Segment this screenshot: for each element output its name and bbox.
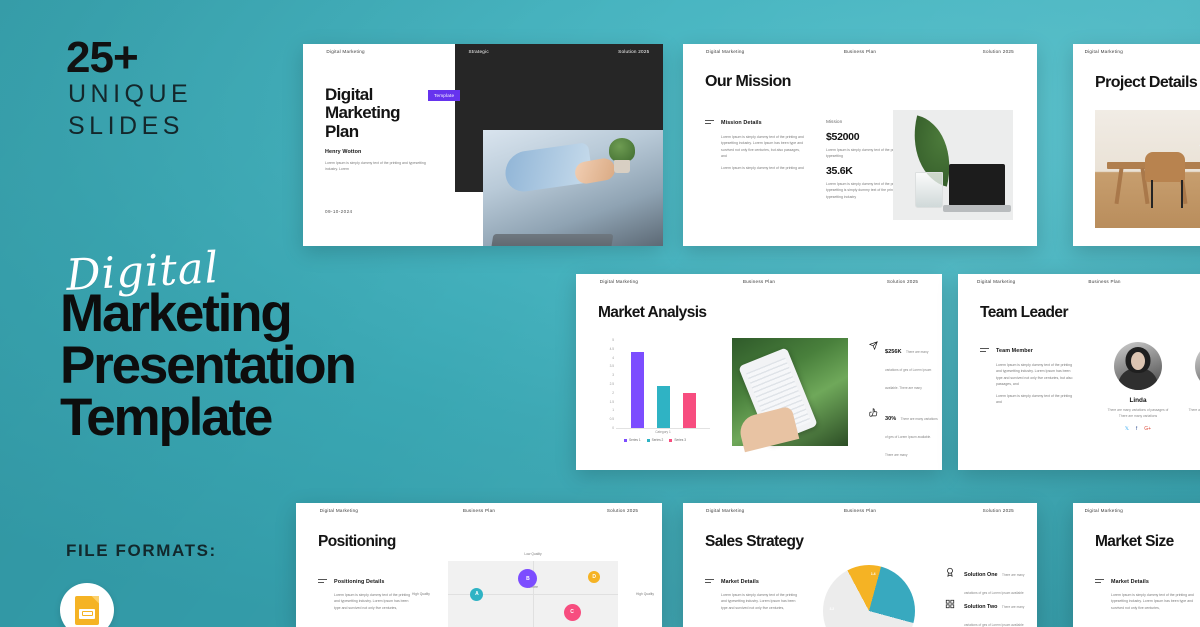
chart-grid-icon [945,595,957,627]
hamburger-icon [1095,579,1104,584]
bar-chart: 54.543.532.521.510.50 Category 1 Series … [600,340,710,444]
slide5-body: Lorem Ipsum is simply dummy text of the … [980,362,1076,406]
hamburger-icon [980,348,989,353]
stat-value: 30% [885,416,896,422]
slide2-header: Digital Marketing Business Plan Solution… [683,44,1037,58]
slide1-head-solution: Solution 2025 [618,49,649,54]
matrix-label-left: High Quality [412,592,430,596]
facebook-icon[interactable]: f [1136,426,1137,432]
template-badge: Template [428,90,460,101]
slide5-body-2: Lorem Ipsum is simply dummy text of the … [996,393,1076,406]
bar-chart-plot [616,340,710,429]
title-line-2: Presentation [60,340,355,392]
matrix-label-right: High Quality [636,592,654,596]
bar-chart-legend-item: Series 1 [624,438,641,442]
bar-chart-legend-item: Series 2 [647,438,664,442]
bar-chart-y-tick: 3 [612,373,614,377]
page-title: Marketing Presentation Template [60,288,355,444]
slide3-header: Digital Marketing [1073,44,1200,58]
slide5-head-center: Business Plan [1088,279,1120,284]
slide5-header: Digital Marketing Business Plan [958,274,1200,288]
slide8-title: Market Size [1095,533,1174,551]
slide5-details-column: Team Member Lorem Ipsum is simply dummy … [980,348,1076,411]
bar-chart-x-label: Category 1 [616,430,710,434]
slide-card-project-details[interactable]: Digital Marketing Project Details [1073,44,1200,246]
bar-chart-y-tick: 2.5 [610,382,614,386]
stat-item: 30% There are many variations of ges of … [868,407,938,461]
unique-line-2: SLIDES [68,110,192,142]
team-member-card: Linda There are many variations of passa… [1102,342,1174,432]
slide8-details-column: Market Details Lorem Ipsum is simply dum… [1095,579,1199,616]
matrix-label-top: Low Quality [524,552,541,556]
bar-chart-legend-item: Series 3 [669,438,686,442]
slide6-head-right: Solution 2025 [607,508,638,513]
slide8-section-label: Market Details [1111,579,1149,585]
slide1-author: Henry Wotton [325,149,361,155]
social-links[interactable]: 𝕏 f G+ [1102,426,1174,432]
pie-label-2: 3.2 [829,607,834,611]
slide1-dark-header: Strategic Solution 2025 [455,44,663,58]
slide3-head-left: Digital Marketing [1085,49,1123,54]
slide7-head-left: Digital Marketing [706,508,744,513]
thumbs-up-icon [868,407,879,461]
slide7-title: Sales Strategy [705,533,803,551]
twitter-icon[interactable]: 𝕏 [1125,426,1129,432]
slide5-title: Team Leader [980,304,1068,322]
slide4-title: Market Analysis [598,304,706,322]
bar-chart-y-tick: 4 [612,356,614,360]
bar-chart-y-tick: 4.5 [610,347,614,351]
google-slides-badge[interactable] [60,583,114,627]
bar-chart-y-tick: 3.5 [610,364,614,368]
slide2-details-column: Mission Details Lorem Ipsum is simply du… [705,120,805,176]
bar-chart-y-tick: 5 [612,338,614,342]
slide5-body-1: Lorem Ipsum is simply dummy text of the … [996,362,1076,388]
slide-card-digital-marketing-plan[interactable]: Digital Marketing Strategic Solution 202… [303,44,663,246]
pie-chart: 1.4 3.2 [823,565,915,627]
paper-plane-icon [868,340,879,394]
avatar [1195,342,1200,390]
slide7-head-center: Business Plan [844,508,876,513]
slide8-header: Digital Marketing [1073,503,1200,517]
solution-title: Solution Two [964,604,997,610]
slide1-head-strategic: Strategic [469,49,489,54]
slide-card-market-size[interactable]: Digital Marketing Market Size Market Det… [1073,503,1200,627]
slide4-head-right: Solution 2025 [887,279,918,284]
slide3-photo [1095,110,1200,228]
pie-label-1: 1.4 [871,572,876,576]
slide7-section-label: Market Details [721,579,759,585]
slide7-body: Lorem Ipsum is simply dummy text of the … [705,592,801,611]
badge-award-icon [945,563,957,599]
social-links[interactable]: 𝕏 f G+ [1183,426,1200,432]
slide2-photo [893,110,1013,220]
slide6-head-left: Digital Marketing [320,508,358,513]
stat-item: $256K There are many variations of ges o… [868,340,938,394]
slide-card-team-leader[interactable]: Digital Marketing Business Plan Team Lea… [958,274,1200,470]
slide4-header: Digital Marketing Business Plan Solution… [576,274,942,288]
positioning-matrix: Low Quality High Quality High Quality Ce… [448,561,618,627]
team-member-card: Henry There are many variations of passa… [1183,342,1200,432]
bar-chart-y-tick: 1.5 [610,400,614,404]
unique-line-1: UNIQUE [68,78,192,110]
member-body: There are many variations of passages of… [1102,408,1174,420]
member-name: Henry [1183,397,1200,404]
slide7-head-right: Solution 2025 [983,508,1014,513]
member-body: There are many variations of passages of… [1183,408,1200,420]
hamburger-icon [705,120,714,125]
avatar [1114,342,1162,390]
stat-body: There are many variations of ges of Lore… [885,417,938,457]
slide1-date: 09-10-2024 [325,209,353,214]
solution-item: Solution One There are many variations o… [945,563,1033,599]
slide-card-market-analysis[interactable]: Digital Marketing Business Plan Solution… [576,274,942,470]
slide6-head-center: Business Plan [463,508,495,513]
google-plus-icon[interactable]: G+ [1144,426,1151,432]
slide2-head-center: Business Plan [844,49,876,54]
slide2-body-2: Lorem Ipsum is simply dummy text of the … [721,165,805,171]
slide-card-our-mission[interactable]: Digital Marketing Business Plan Solution… [683,44,1037,246]
bar-chart-y-axis: 54.543.532.521.510.50 [600,340,614,428]
slide4-stats-list: $256K There are many variations of ges o… [868,340,938,470]
slide-count: 25+ [66,36,138,80]
bar-chart-legend: Series 1Series 2Series 3 [600,438,710,442]
slide7-header: Digital Marketing Business Plan Solution… [683,503,1037,517]
bar-chart-y-tick: 0.5 [610,417,614,421]
positioning-bubble-a: A [470,588,483,601]
slide5-head-left: Digital Marketing [977,279,1015,284]
slide2-title: Our Mission [705,73,791,91]
positioning-bubble-c: C [564,604,581,621]
bar-chart-bar [683,393,696,428]
google-slides-icon [75,596,99,625]
slide2-body-1: Lorem Ipsum is simply dummy text of the … [721,134,805,160]
solution-title: Solution One [964,572,998,578]
slide1-title: Digital Marketing Plan [325,86,400,141]
slide8-head-left: Digital Marketing [1085,508,1123,513]
member-name: Linda [1102,397,1174,404]
slide1-body: Lorem Ipsum is simply dummy text of the … [325,160,435,178]
title-line-1: Marketing [60,288,355,340]
slide1-title-l3: Plan [325,123,400,141]
slide2-body: Lorem Ipsum is simply dummy text of the … [705,134,805,171]
slide2-head-right: Solution 2025 [983,49,1014,54]
bar-chart-y-tick: 2 [612,391,614,395]
slide4-photo [732,338,848,446]
bar-chart-y-tick: 1 [612,408,614,412]
slide6-body: Lorem Ipsum is simply dummy text of the … [318,592,414,611]
slide5-section-label: Team Member [996,348,1033,354]
hamburger-icon [318,579,327,584]
slide7-details-column: Market Details Lorem Ipsum is simply dum… [705,579,801,616]
slide6-title: Positioning [318,533,396,551]
slide4-head-center: Business Plan [743,279,775,284]
promo-banner: 25+ UNIQUE SLIDES Digital Marketing Pres… [0,0,1200,627]
bar-chart-bar [631,352,644,428]
bar-chart-bar [657,386,670,428]
stat-value: $256K [885,349,901,355]
slide2-head-left: Digital Marketing [706,49,744,54]
slide6-section-label: Positioning Details [334,579,384,585]
slide1-photo [483,130,663,246]
slide1-title-l2: Marketing [325,104,400,122]
slide1-title-l1: Digital [325,86,400,104]
hamburger-icon [705,579,714,584]
slide8-body: Lorem Ipsum is simply dummy text of the … [1095,592,1199,611]
slide3-title: Project Details [1095,74,1197,92]
slide1-head-left: Digital Marketing [326,49,364,54]
slide6-header: Digital Marketing Business Plan Solution… [296,503,662,517]
slide-card-sales-strategy[interactable]: Digital Marketing Business Plan Solution… [683,503,1037,627]
solution-item: Solution Two There are many variations o… [945,595,1033,627]
title-line-3: Template [60,392,355,444]
slide2-section-label: Mission Details [721,120,762,126]
stat-body: There are many variations of ges of Lore… [885,350,931,390]
slide4-head-left: Digital Marketing [600,279,638,284]
positioning-bubble-d: D [588,571,600,583]
slide-card-positioning[interactable]: Digital Marketing Business Plan Solution… [296,503,662,627]
file-formats-label: FILE FORMATS: [66,541,217,561]
unique-slides-label: UNIQUE SLIDES [68,78,192,142]
bar-chart-y-tick: 0 [612,426,614,430]
slide6-details-column: Positioning Details Lorem Ipsum is simpl… [318,579,414,616]
